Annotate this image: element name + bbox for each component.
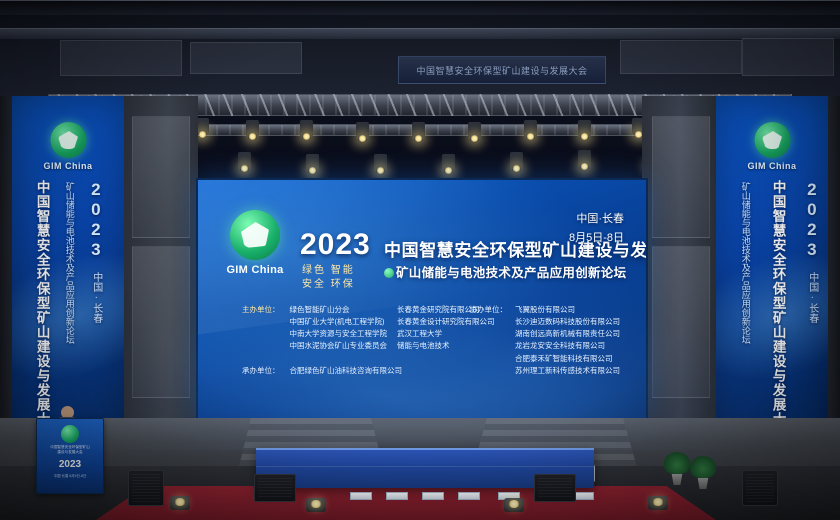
screen-logo-brand: GIM China [218,264,292,276]
pillar-right-year: 2023 [802,180,820,260]
floor-light-2 [306,498,326,512]
stage-light-6 [356,122,369,139]
floor-light-3 [504,498,524,512]
leaf-logo-icon [50,122,86,158]
host-col1-item-3: 中国水泥协会矿山专业委员会 [290,340,388,352]
screen-place-block: 中国·长春 8月5日-8日 [569,210,624,247]
screen-title-sub-wrap: 矿山储能与电池技术及产品应用创新论坛 [384,262,626,281]
wall-panel-left-1 [132,116,190,238]
exec-label: 承办单位： [242,365,280,377]
support-item-4: 合肥泰禾矿智能科技有限公司 [515,353,620,365]
exec-value: 合肥绿色矿山油科技咨询有限公司 [290,365,403,377]
pillar-left-title: 中国智慧安全环保型矿山建设与发展大会 [34,180,49,441]
speaker-box-right [742,470,778,506]
pillar-right-brand: GIM China [748,161,797,171]
wall-left [124,96,198,426]
roll-banner-foot: 中国·长春 8月5日-8日 [37,473,103,478]
screen-title-sub: 矿山储能与电池技术及产品应用创新论坛 [396,266,626,280]
pillar-right-title: 中国智慧安全环保型矿山建设与发展大会 [770,180,785,441]
leaf-logo-icon [230,210,280,260]
support-item-2: 湖南创远高新机械有限责任公司 [515,328,620,340]
pillar-right-logo: GIM China [748,122,797,171]
stage-light-row2-4 [374,154,387,171]
leaf-logo-icon [754,122,790,158]
plant-leaves [664,452,690,474]
stage-light-4 [246,120,259,137]
wall-panel-right-2 [652,246,710,398]
ceiling-beam-1 [0,28,840,39]
plant-leaves [690,456,716,478]
top-banner: 中国智慧安全环保型矿山建设与发展大会 [398,56,606,84]
ceiling-panel-2 [190,42,302,74]
decorative-plant-right [690,456,716,490]
floor-light-4 [648,496,668,510]
pillar-left-city: 中国·长春 [90,272,101,323]
conference-stage-photo: 中国智慧安全环保型矿山建设与发展大会 GIM China 202 [0,0,840,520]
screen-organizers-host: 主办单位： 绿色智能矿山分会 中国矿业大学(机电工程学院) 中南大学资源与安全工… [242,304,495,353]
pillar-left-logo: GIM China [44,122,93,171]
ceiling-beam-2 [0,0,840,15]
screen-slogan: 绿色 智能 安全 环保 [302,264,355,291]
leaf-logo-icon [61,425,79,443]
stage-light-7 [412,122,425,139]
host-col1-item-0: 绿色智能矿山分会 [290,304,388,316]
ceiling-panel-3 [620,40,742,74]
support-column: 飞翼股份有限公司 长沙迪迈数码科技股份有限公司 湖南创远高新机械有限责任公司 龙… [515,304,620,377]
ceiling-panel-4 [742,38,834,76]
plant-pot [696,478,710,489]
pillar-right-subtitle: 矿山储能与电池技术及产品应用创新论坛 [740,182,750,344]
decorative-plant-left [664,452,690,486]
main-led-screen: GIM China 2023 绿色 智能 安全 环保 中国智慧安全环保型矿山建设… [196,178,648,422]
host-label: 主办单位： [242,304,280,353]
wall-panel-right-1 [652,116,710,238]
table-skirt-line [256,466,594,467]
nameplate-1 [350,492,372,500]
host-col1-item-1: 中国矿业大学(机电工程学院) [290,316,388,328]
plant-pot [670,474,684,485]
ceiling-panel-1 [60,40,182,76]
support-item-1: 长沙迪迈数码科技股份有限公司 [515,316,620,328]
speaker-box-center-left [254,474,296,502]
pillar-left-brand: GIM China [44,161,93,171]
nameplate-2 [386,492,408,500]
stage-light-9 [524,120,537,137]
pillar-right-city: 中国·长春 [806,272,817,323]
stage-light-row2-7 [578,150,591,167]
host-column-1: 绿色智能矿山分会 中国矿业大学(机电工程学院) 中南大学资源与安全工程学院 中国… [290,304,388,353]
wall-panel-left-2 [132,246,190,398]
stage-light-8 [468,122,481,139]
pillar-left-year: 2023 [86,180,104,260]
pillar-left-subtitle: 矿山储能与电池技术及产品应用创新论坛 [64,182,74,344]
screen-date: 8月5日-8日 [569,229,624,248]
stage-light-10 [578,120,591,137]
stage-light-row2-2 [238,152,251,169]
screen-place: 中国·长春 [569,210,624,229]
stage-light-row2-3 [306,154,319,171]
nameplate-3 [422,492,444,500]
roll-banner-year: 2023 [37,459,103,470]
screen-year: 2023 [300,228,371,262]
stage-light-row2-6 [510,152,523,169]
host-col1-item-2: 中南大学资源与安全工程学院 [290,328,388,340]
roll-up-banner: 中国智慧安全环保型矿山 建设与发展大会 2023 中国·长春 8月5日-8日 [36,418,104,494]
support-label: 协办单位： [470,304,508,377]
screen-organizers-exec: 承办单位： 合肥绿色矿山油科技咨询有限公司 [242,365,402,377]
screen-slogan-line2: 安全 环保 [302,278,355,292]
screen-organizers-support: 协办单位： 飞翼股份有限公司 长沙迪迈数码科技股份有限公司 湖南创远高新机械有限… [470,304,621,377]
nameplate-4 [458,492,480,500]
speaker-box-center-right [534,474,576,502]
wall-right [642,96,718,426]
stage-light-row2-5 [442,154,455,171]
support-item-3: 龙岩龙安安全科技有限公司 [515,340,620,352]
support-item-0: 飞翼股份有限公司 [515,304,620,316]
floor-light-1 [170,496,190,510]
screen-logo: GIM China [218,210,292,276]
stage-light-5 [300,120,313,137]
roll-banner-line2: 建设与发展大会 [37,450,103,455]
support-item-5: 苏州理工新科传感技术有限公司 [515,365,620,377]
speaker-box-left [128,470,164,506]
screen-slogan-line1: 绿色 智能 [302,264,355,278]
leaf-bullet-icon [384,268,394,278]
